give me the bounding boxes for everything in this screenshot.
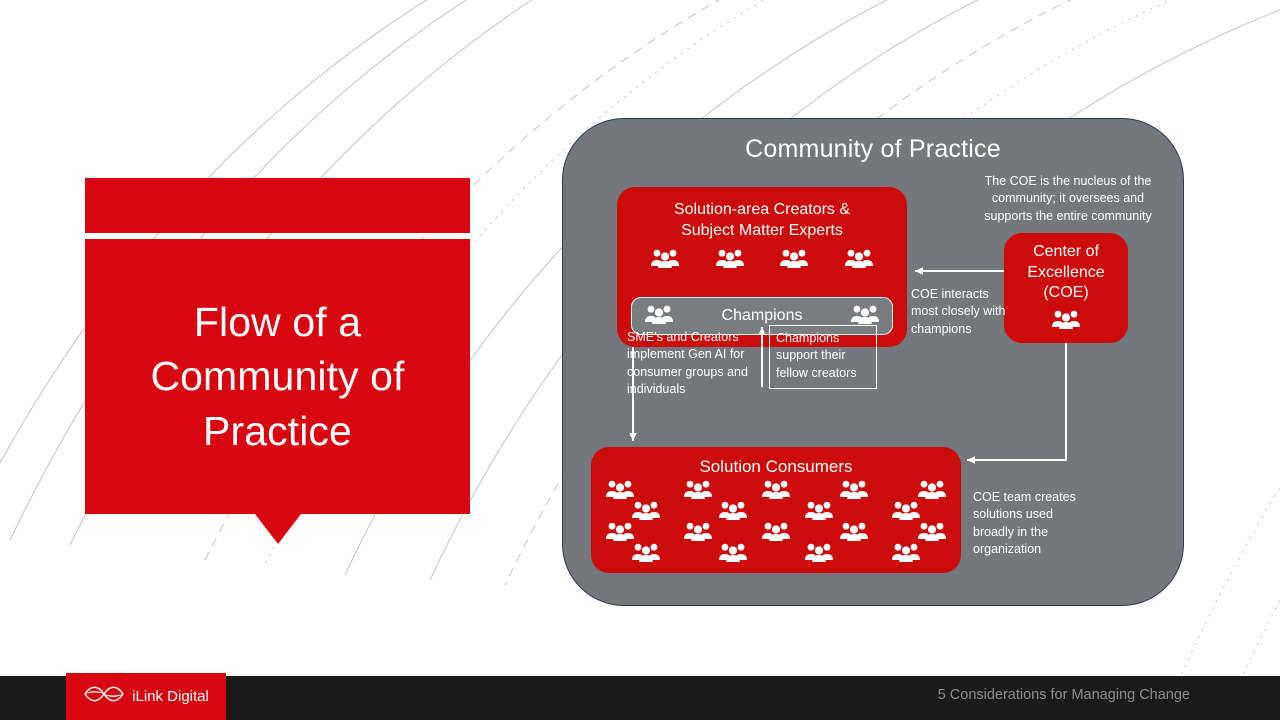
people-group-icon — [804, 500, 834, 525]
champions-label: Champions — [722, 307, 803, 325]
title-pointer-triangle — [255, 514, 301, 544]
people-group-icon — [917, 479, 947, 504]
people-group-icon — [761, 521, 791, 546]
title-block: Flow of a Community of Practice — [85, 178, 470, 514]
solution-consumers-title: Solution Consumers — [591, 447, 961, 477]
title-body: Flow of a Community of Practice — [85, 239, 470, 514]
people-group-icon — [631, 542, 661, 567]
brand-logo[interactable]: iLink Digital — [66, 673, 226, 720]
annotation-sme-implement: SME’s and Creators implement Gen AI for … — [627, 329, 755, 398]
community-of-practice-container: Community of Practice Solution-area Crea… — [562, 118, 1184, 606]
people-group-icon — [718, 542, 748, 567]
annotation-coe-nucleus: The COE is the nucleus of the community;… — [968, 173, 1168, 225]
title-accent-bar — [85, 178, 470, 233]
people-group-icon — [718, 500, 748, 525]
creators-icon-row — [617, 242, 907, 273]
people-group-icon — [891, 542, 921, 567]
people-group-icon — [839, 521, 869, 546]
people-group-icon — [779, 248, 809, 273]
people-group-icon — [804, 542, 834, 567]
diagram-title: Community of Practice — [563, 135, 1183, 164]
creators-sme-title: Solution-area Creators & Subject Matter … — [617, 187, 907, 242]
annotation-champions-support: Champions support their fellow creators — [769, 325, 877, 389]
footer-deck-title: 5 Considerations for Managing Change — [938, 687, 1190, 703]
page-title: Flow of a Community of Practice — [150, 295, 404, 459]
people-group-icon — [761, 479, 791, 504]
annotation-coe-interacts: COE interacts most closely with champion… — [911, 286, 1019, 338]
solution-consumers-box[interactable]: Solution Consumers — [591, 447, 961, 573]
people-group-icon — [839, 479, 869, 504]
people-group-icon — [650, 248, 680, 273]
consumers-icon-grid — [591, 477, 961, 567]
brand-logo-text: iLink Digital — [132, 688, 209, 705]
annotation-coe-team-creates: COE team creates solutions used broadly … — [973, 489, 1093, 558]
people-group-icon — [644, 304, 674, 329]
people-group-icon — [683, 479, 713, 504]
creators-sme-box[interactable]: Solution-area Creators & Subject Matter … — [617, 187, 907, 347]
center-of-excellence-box[interactable]: Center of Excellence (COE) — [1004, 233, 1128, 343]
people-group-icon — [1051, 309, 1081, 334]
infinity-icon — [83, 684, 125, 709]
people-group-icon — [631, 500, 661, 525]
people-group-icon — [917, 521, 947, 546]
people-group-icon — [844, 248, 874, 273]
people-group-icon — [715, 248, 745, 273]
coe-title: Center of Excellence (COE) — [1027, 242, 1104, 304]
people-group-icon — [683, 521, 713, 546]
